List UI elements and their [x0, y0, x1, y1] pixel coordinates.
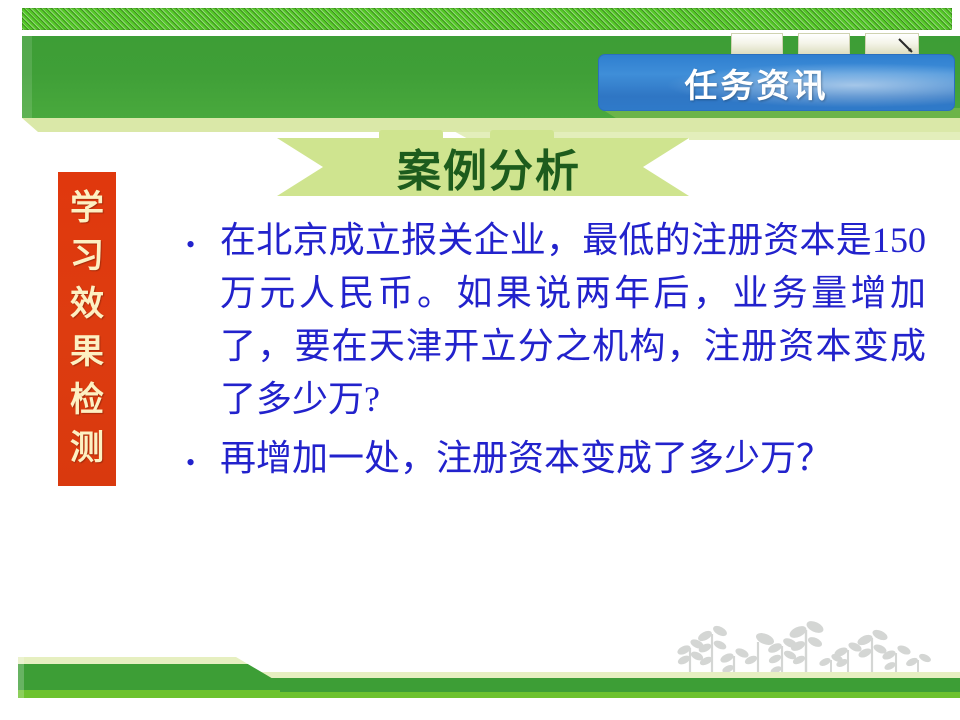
list-item: • 再增加一处，注册资本变成了多少万？ [186, 432, 926, 485]
bullet-text-1: 在北京成立报关企业，最低的注册资本是150万元人民币。如果说两年后，业务量增加了… [220, 214, 926, 426]
bullet-dot-icon: • [186, 214, 220, 258]
slide-canvas: 任务资讯 案例分析 学 习 效 果 检 测 • 在北京成立报关企业，最低的注册资… [0, 0, 960, 720]
side-label-char-5: 检 [70, 384, 104, 418]
side-label-char-6: 测 [70, 432, 104, 466]
side-label-char-3: 效 [70, 288, 104, 322]
bullet-dot-icon: • [186, 432, 220, 476]
bullet-text-2: 再增加一处，注册资本变成了多少万？ [220, 432, 926, 485]
top-hatched-stripe [22, 8, 952, 30]
side-vertical-label: 学 习 效 果 检 测 [58, 172, 116, 486]
body-content: • 在北京成立报关企业，最低的注册资本是150万元人民币。如果说两年后，业务量增… [186, 214, 926, 491]
side-label-char-2: 习 [70, 240, 104, 274]
ribbon-banner: 案例分析 [277, 130, 689, 196]
ribbon-title: 案例分析 [277, 138, 689, 196]
section-title-chip: 任务资讯 [598, 54, 955, 111]
footer-bar-left [18, 657, 280, 698]
pencil-mark-icon [897, 37, 915, 55]
list-item: • 在北京成立报关企业，最低的注册资本是150万元人民币。如果说两年后，业务量增… [186, 214, 926, 426]
section-title-text: 任务资讯 [685, 59, 869, 107]
footer-bar-right [245, 672, 960, 698]
side-label-char-4: 果 [70, 336, 104, 370]
side-label-char-1: 学 [70, 192, 104, 226]
